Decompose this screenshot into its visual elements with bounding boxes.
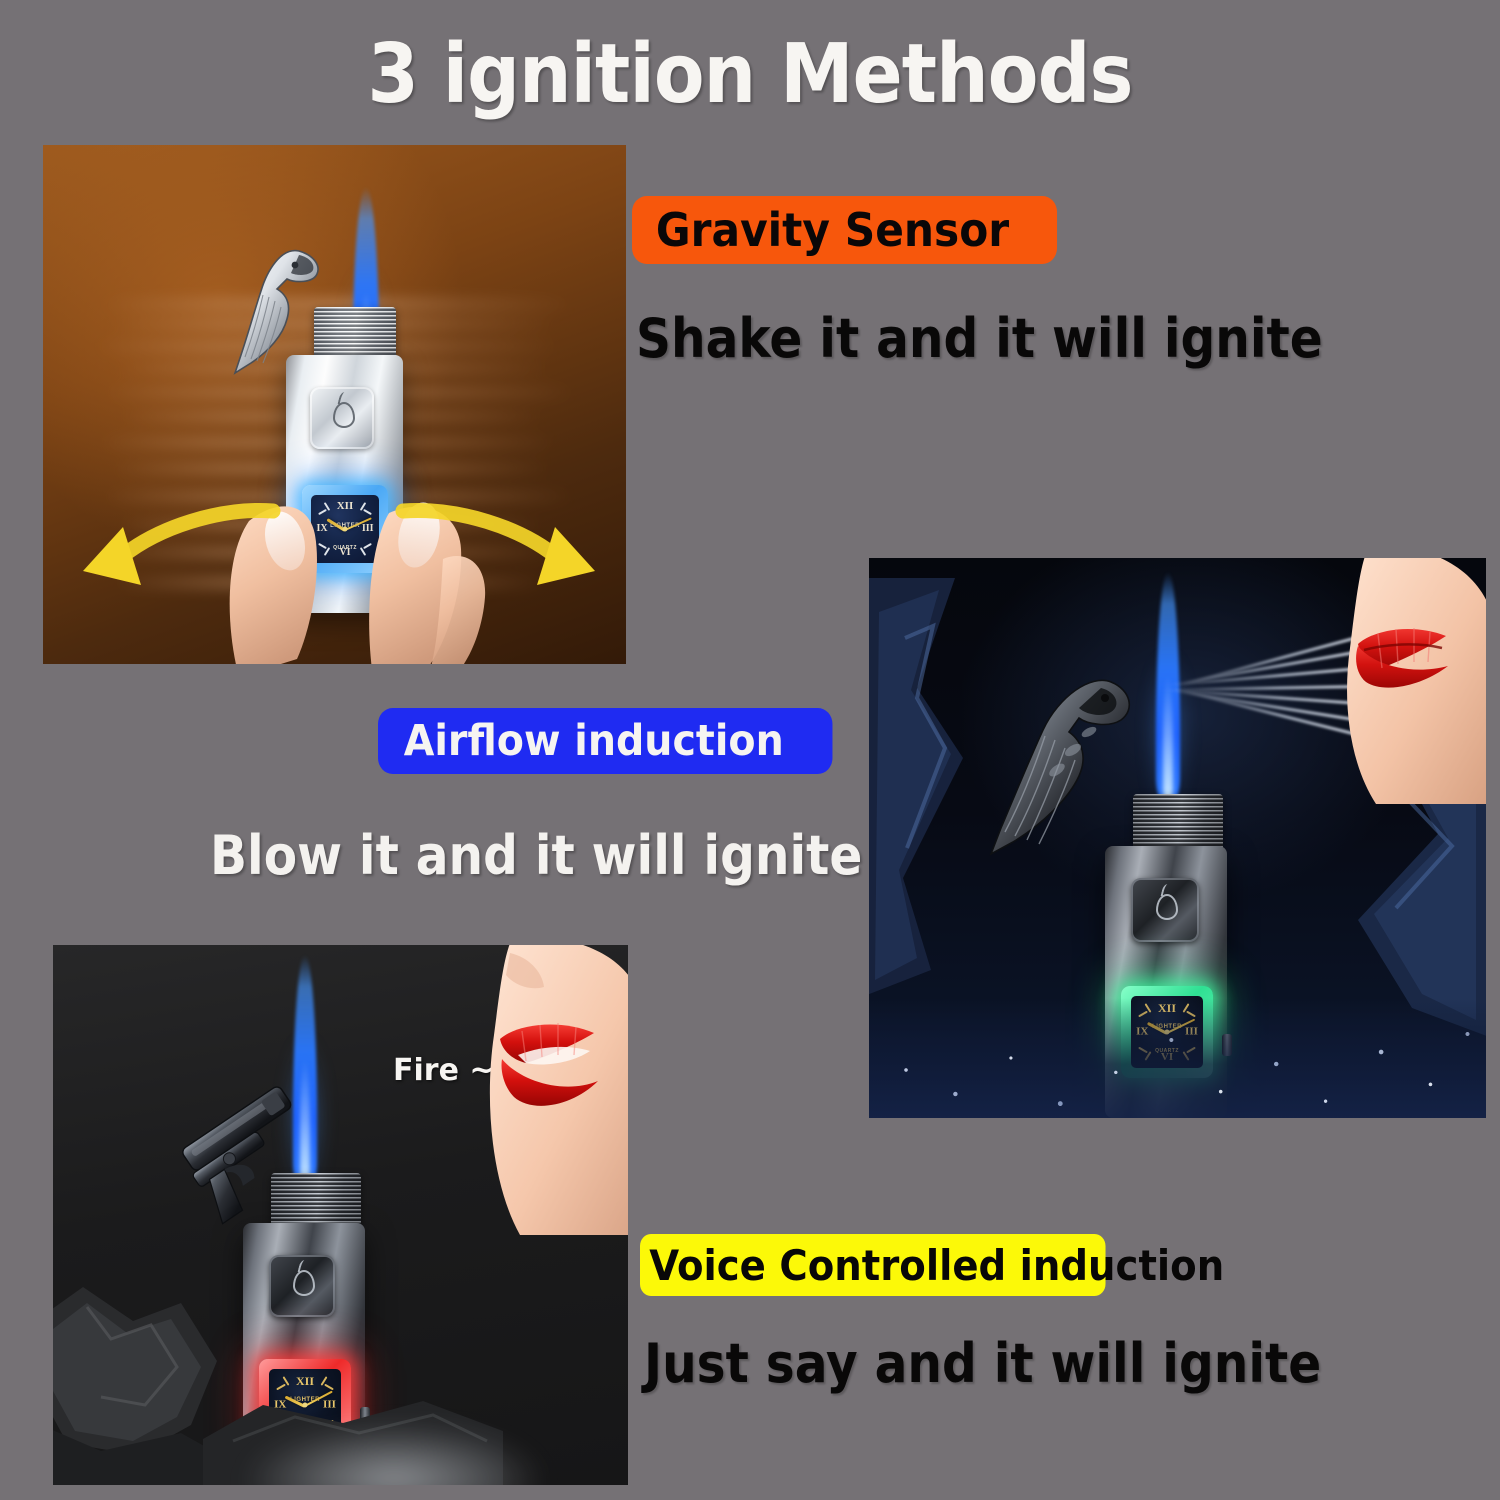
lips-blowing [1306,558,1486,804]
flame-button [310,387,374,449]
lighter-cap [271,1173,361,1227]
caption-blow: Blow it and it will ignite [210,824,862,887]
smoke-haze [163,1375,583,1485]
badge-voice-controlled[interactable]: Voice Controlled induction [640,1234,1106,1296]
shake-arrow-right-icon [395,493,617,609]
badge-voice-label: Voice Controlled induction [649,1241,1224,1290]
caption-say: Just say and it will ignite [644,1332,1321,1395]
photo-gravity-sensor: LIGHTER QUARTZ XII III VI IX [43,145,626,664]
badge-airflow-induction[interactable]: Airflow induction [378,708,832,774]
infographic-canvas: 3 ignition Methods [0,0,1500,1500]
glitter-ground [869,998,1486,1118]
badge-gravity-sensor[interactable]: Gravity Sensor [632,196,1057,264]
jet-flame-icon [1156,572,1180,800]
badge-airflow-label: Airflow induction [404,716,784,766]
caption-shake: Shake it and it will ignite [636,307,1323,370]
lips-speaking [456,945,628,1235]
lighter-cap [314,307,396,359]
photo-voice-controlled: LIGHTER QUARTZ XII III VI IX [53,945,628,1485]
page-title: 3 ignition Methods [75,30,1425,120]
shake-arrow-left-icon [61,493,281,609]
photo-airflow-induction: LIGHTER QUARTZ XII III VI IX [869,558,1486,1118]
flame-button [269,1255,335,1317]
dragon-head-ornament [983,666,1143,858]
flame-button [1131,878,1199,942]
badge-gravity-label: Gravity Sensor [656,203,1009,257]
lighter-cap [1133,794,1223,850]
